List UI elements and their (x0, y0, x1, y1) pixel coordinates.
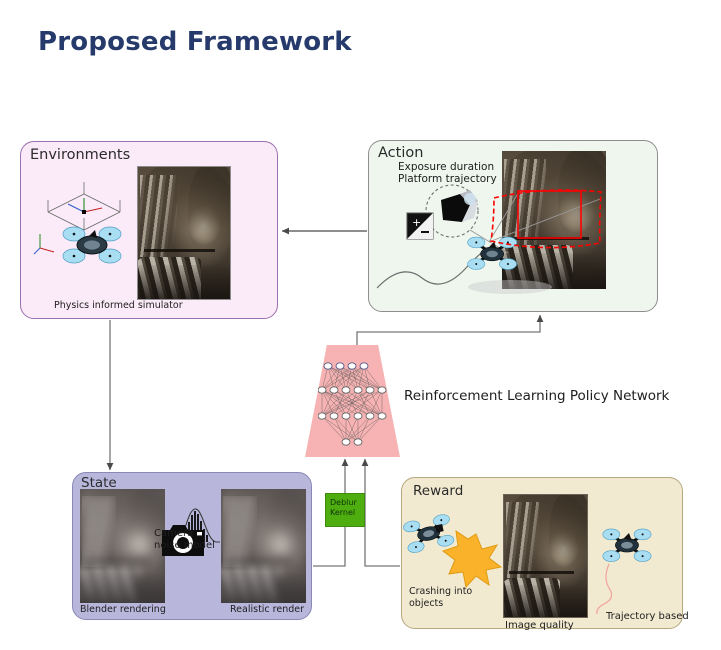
environments-caption: Physics informed simulator (54, 300, 183, 311)
action-subtitle-line1: Exposure duration (398, 161, 494, 173)
state-middle-label-line2: noise model (154, 540, 215, 551)
state-middle-label: Camera noise model (154, 528, 215, 552)
arrow-reward-to-policy (365, 459, 400, 566)
environments-tunnel-image (137, 166, 231, 300)
deblur-kernel-line1: Deblur (330, 498, 357, 507)
policy-network-label: Reinforcement Learning Policy Network (404, 388, 669, 404)
neural-network-icon (318, 358, 388, 450)
state-middle-label-line1: Camera (154, 528, 193, 539)
reward-caption-crash: Crashing into objects (409, 586, 479, 609)
page-title: Proposed Framework (38, 27, 352, 57)
state-caption-right: Realistic render (230, 604, 304, 615)
deblur-kernel-box[interactable]: Deblur Kernel (325, 493, 365, 527)
reward-caption-crash-line2: objects (409, 598, 443, 609)
reward-tunnel-image (503, 494, 588, 618)
action-tunnel-image (502, 151, 606, 289)
state-caption-left: Blender rendering (80, 604, 166, 615)
action-subtitle-line2: Platform trajectory (398, 173, 497, 185)
reward-caption-image: Image quality (505, 620, 574, 631)
reward-caption-crash-line1: Crashing into (409, 586, 472, 597)
diagram-canvas: Proposed Framework Environments (0, 0, 721, 650)
reward-caption-trajectory: Trajectory based (606, 611, 689, 622)
deblur-kernel-line2: Kernel (330, 508, 355, 517)
arrow-policy-to-action (357, 315, 540, 345)
action-title: Action (378, 145, 423, 161)
state-blender-image (80, 489, 165, 603)
reward-title: Reward (413, 483, 463, 499)
action-subtitle: Exposure duration Platform trajectory (398, 162, 497, 185)
environments-title: Environments (30, 147, 130, 163)
state-realistic-image (221, 489, 306, 603)
